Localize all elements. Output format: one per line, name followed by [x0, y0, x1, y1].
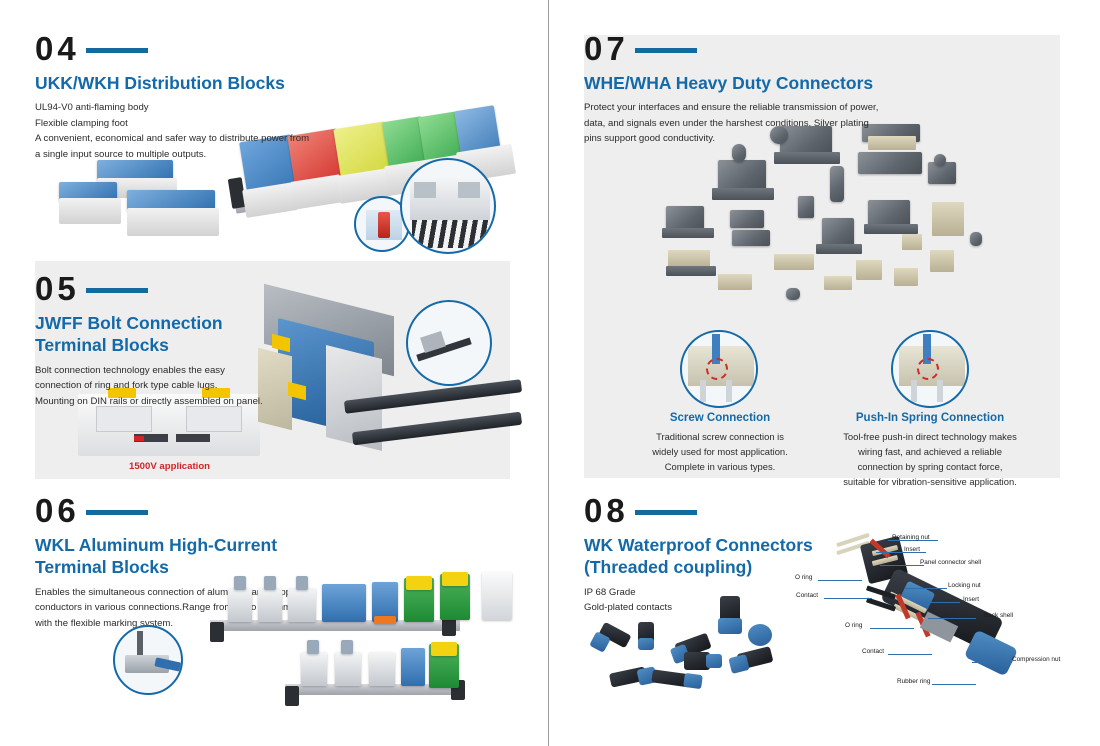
- section-07: 07 WHE/WHA Heavy Duty Connectors Protect…: [584, 28, 914, 147]
- leader-line: [824, 598, 872, 599]
- section-title: UKK/WKH Distribution Blocks: [35, 72, 335, 94]
- section-06-detail-circle: [113, 625, 183, 695]
- leader-line: [818, 580, 862, 581]
- diagram-label: Locking nut: [948, 582, 981, 589]
- diagram-label: Insert: [904, 546, 920, 553]
- leader-line: [972, 662, 1012, 663]
- leader-line: [932, 684, 976, 685]
- callout-title: Screw Connection: [640, 412, 800, 424]
- diagram-label: O ring: [795, 574, 812, 581]
- diagram-label: Insert: [963, 596, 979, 603]
- leader-line: [928, 618, 976, 619]
- section-title: JWFF Bolt Connection Terminal Blocks: [35, 312, 285, 357]
- section-number: 08: [584, 494, 629, 527]
- detail-circle-bolt-tool: [406, 300, 492, 386]
- section-05-note: 1500V application: [129, 461, 210, 472]
- leader-line: [918, 602, 960, 603]
- section-number: 05: [35, 272, 80, 305]
- section-title: WHE/WHA Heavy Duty Connectors: [584, 72, 914, 94]
- section-05: 05 JWFF Bolt Connection Terminal Blocks …: [35, 268, 285, 409]
- section-05-number-rule: 05: [35, 268, 285, 308]
- accent-rule: [86, 48, 148, 53]
- leader-line: [905, 588, 947, 589]
- callout-body: Traditional screw connection is widely u…: [640, 430, 800, 475]
- section-description: Protect your interfaces and ensure the r…: [584, 100, 914, 147]
- callout-title: Push-In Spring Connection: [828, 412, 1032, 424]
- section-06-product-photo-lower: [285, 640, 505, 710]
- page-divider: [548, 0, 549, 746]
- leader-line: [888, 654, 932, 655]
- section-07-number-rule: 07: [584, 28, 914, 68]
- accent-rule: [635, 510, 697, 515]
- section-description: Bolt connection technology enables the e…: [35, 363, 285, 410]
- accent-rule: [635, 48, 697, 53]
- section-number: 04: [35, 32, 80, 65]
- accent-rule: [86, 288, 148, 293]
- diagram-label: Retaining nut: [892, 534, 930, 541]
- diagram-label: Compression nut: [1012, 656, 1060, 663]
- push-in-spring-connection-image: [891, 330, 969, 408]
- section-08-number-rule: 08: [584, 490, 884, 530]
- catalog-spread: 04 UKK/WKH Distribution Blocks UL94-V0 a…: [0, 0, 1100, 746]
- screw-connection-image: [680, 330, 758, 408]
- section-number: 07: [584, 32, 629, 65]
- section-04-secondary-photo: [55, 160, 240, 250]
- callout-body: Tool-free push-in direct technology make…: [828, 430, 1032, 489]
- diagram-label: O ring: [845, 622, 862, 629]
- section-06-number-rule: 06: [35, 490, 335, 530]
- section-number: 06: [35, 494, 80, 527]
- diagram-label: Rubber ring: [897, 678, 930, 685]
- section-description: UL94-V0 anti-flaming body Flexible clamp…: [35, 100, 335, 162]
- accent-rule: [86, 510, 148, 515]
- leader-line: [880, 565, 924, 566]
- section-04-number-rule: 04: [35, 28, 335, 68]
- section-08-product-photo: [580, 588, 780, 700]
- diagram-label: Back shell: [984, 612, 1013, 619]
- diagram-label: Contact: [862, 648, 884, 655]
- detail-circle-terminals: [400, 158, 496, 254]
- leader-line: [870, 628, 914, 629]
- section-04: 04 UKK/WKH Distribution Blocks UL94-V0 a…: [35, 28, 335, 163]
- diagram-label: Contact: [796, 592, 818, 599]
- diagram-label: Panel connector shell: [920, 559, 981, 566]
